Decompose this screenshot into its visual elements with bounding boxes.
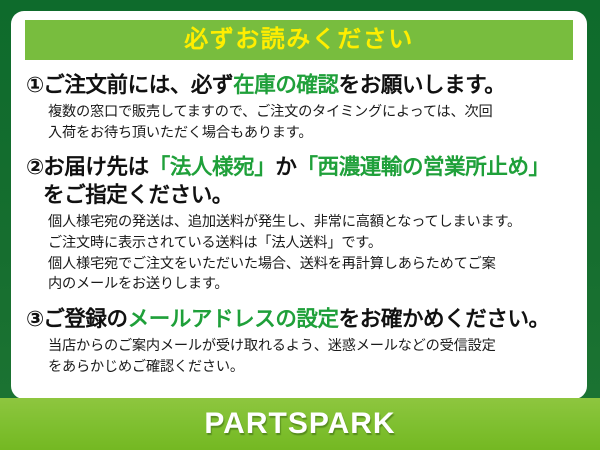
- brand-name: PARTSPARK: [204, 409, 395, 439]
- banner-title: 必ずお読みください: [184, 28, 414, 52]
- subtext-line: 個人様宅宛でご注文をいただいた場合、送料を再計算しあらためてご案: [48, 254, 572, 275]
- plain-text: をお確かめください。: [339, 307, 550, 331]
- item-heading: ③ご登録のメールアドレスの設定をお確かめください。: [26, 306, 572, 334]
- item-marker-3: ③: [26, 307, 43, 331]
- highlighted-text: 「西濃運輸の営業所止め」: [296, 155, 549, 179]
- subtext-line: ご注文時に表示されている送料は「法人送料」です。: [48, 233, 572, 254]
- notice-item: ①ご注文前には、必ず在庫の確認をお願いします。複数の窓口で販売してますので、ご注…: [26, 72, 572, 143]
- notice-frame: 必ずお読みください ①ご注文前には、必ず在庫の確認をお願いします。複数の窓口で販…: [0, 0, 600, 450]
- subtext-line: 複数の窓口で販売してますので、ご注文のタイミングによっては、次回: [48, 102, 572, 123]
- item-marker-1: ①: [26, 73, 43, 97]
- subtext-line: をあらかじめご確認ください。: [48, 357, 572, 378]
- item-heading: ①ご注文前には、必ず在庫の確認をお願いします。: [26, 72, 572, 100]
- notice-item: ③ご登録のメールアドレスの設定をお確かめください。当店からのご案内メールが受け取…: [26, 306, 572, 377]
- plain-text: をお願いします。: [339, 73, 506, 97]
- item-heading: ②お届け先は「法人様宛」か「西濃運輸の営業所止め」: [26, 154, 572, 182]
- item-subtext: 複数の窓口で販売してますので、ご注文のタイミングによっては、次回入荷をお待ち頂い…: [26, 100, 572, 143]
- highlighted-text: 在庫の確認: [233, 73, 339, 97]
- plain-text: ご登録の: [43, 307, 127, 331]
- plain-text: か: [275, 155, 296, 179]
- item-subtext: 個人様宅宛の発送は、追加送料が発生し、非常に高額となってしまいます。ご注文時に表…: [26, 210, 572, 295]
- subtext-line: 当店からのご案内メールが受け取れるよう、迷惑メールなどの受信設定: [48, 336, 572, 357]
- subtext-line: 内のメールをお送りします。: [48, 274, 572, 295]
- item-heading-line2: をご指定ください。: [26, 182, 572, 210]
- highlighted-text: メールアドレスの設定: [128, 307, 339, 331]
- plain-text: をご指定ください。: [43, 183, 233, 207]
- subtext-line: 入荷をお待ち頂いただく場合もあります。: [48, 123, 572, 144]
- notice-card: 必ずお読みください ①ご注文前には、必ず在庫の確認をお願いします。複数の窓口で販…: [11, 11, 587, 399]
- notice-items: ①ご注文前には、必ず在庫の確認をお願いします。複数の窓口で販売してますので、ご注…: [24, 60, 574, 378]
- item-marker-2: ②: [26, 155, 43, 179]
- plain-text: ご注文前には、必ず: [43, 73, 233, 97]
- notice-banner: 必ずお読みください: [25, 20, 573, 60]
- item-subtext: 当店からのご案内メールが受け取れるよう、迷惑メールなどの受信設定をあらかじめご確…: [26, 334, 572, 377]
- footer-bar: PARTSPARK: [0, 398, 600, 450]
- notice-item: ②お届け先は「法人様宛」か「西濃運輸の営業所止め」をご指定ください。個人様宅宛の…: [26, 154, 572, 295]
- plain-text: お届け先は: [43, 155, 149, 179]
- subtext-line: 個人様宅宛の発送は、追加送料が発生し、非常に高額となってしまいます。: [48, 212, 572, 233]
- highlighted-text: 「法人様宛」: [149, 155, 276, 179]
